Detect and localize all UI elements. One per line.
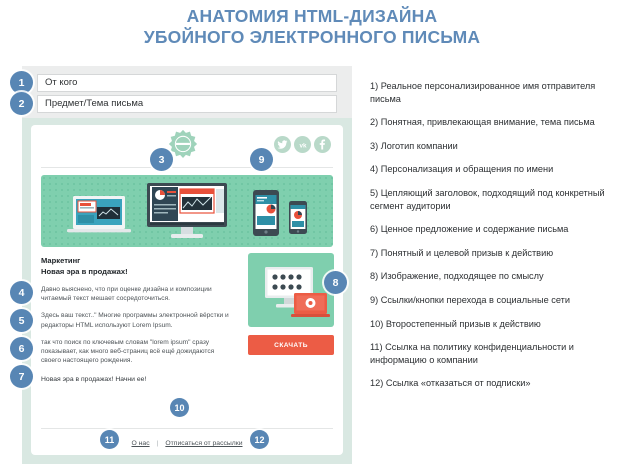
legend-item-4: 4) Персонализация и обращения по имени (370, 163, 616, 176)
about-link[interactable]: О нас (131, 440, 149, 447)
product-card: СКАЧАТЬ (248, 253, 334, 355)
header-divider (41, 167, 333, 168)
legend-item-6: 6) Ценное предложение и содержание письм… (370, 223, 616, 236)
email-body: Маркетинг Новая эра в продажах! Давно вы… (31, 247, 343, 383)
badge-5: 5 (10, 309, 33, 332)
legend-item-3: 3) Логотип компании (370, 140, 616, 153)
marketing-kicker: Маркетинг (41, 256, 80, 265)
badge-10: 10 (170, 398, 189, 417)
email-text-column: Маркетинг Новая эра в продажах! Давно вы… (41, 256, 231, 383)
badge-2: 2 (10, 92, 33, 115)
twitter-icon[interactable] (274, 136, 291, 153)
unsubscribe-link[interactable]: Отписаться от рассылки (165, 440, 242, 447)
legend-item-2: 2) Понятная, привлекающая внимание, тема… (370, 116, 616, 129)
badge-6: 6 (10, 337, 33, 360)
email-footer: О нас | Отписаться от рассылки (31, 440, 343, 447)
badge-11: 11 (100, 430, 119, 449)
badge-12: 12 (250, 430, 269, 449)
subject-field[interactable]: Предмет/Тема письма (37, 95, 337, 113)
legend-item-11: 11) Ссылка на политику конфиденциальност… (370, 341, 616, 366)
body-paragraph-1: Давно выяснено, что при оценке дизайна и… (41, 285, 231, 303)
legend-list: 1) Реальное персонализированное имя отпр… (370, 80, 616, 401)
tablet-device-icon (253, 190, 279, 236)
badge-8: 8 (324, 271, 347, 294)
legend-item-1: 1) Реальное персонализированное имя отпр… (370, 80, 616, 105)
product-image (248, 253, 334, 327)
from-field[interactable]: От кого (37, 74, 337, 92)
infographic-page: АНАТОМИЯ HTML-ДИЗАЙНА УБОЙНОГО ЭЛЕКТРОНН… (0, 0, 624, 473)
monitor-device-icon (145, 183, 229, 241)
facebook-icon[interactable] (314, 136, 331, 153)
secondary-cta-text[interactable]: Новая эра в продажах! Начни ее! (41, 376, 231, 383)
badge-3: 3 (150, 148, 173, 171)
marketing-headline: Новая эра в продажах! (41, 267, 128, 276)
badge-9: 9 (250, 148, 273, 171)
legend-item-9: 9) Ссылки/кнопки перехода в социальные с… (370, 294, 616, 307)
email-mockup: От кого Предмет/Тема письма 1 2 (22, 66, 352, 464)
vk-icon[interactable]: vk (294, 136, 311, 153)
badge-4: 4 (10, 281, 33, 304)
svg-text:vk: vk (299, 142, 307, 149)
footer-separator: | (157, 440, 159, 447)
legend-item-8: 8) Изображение, подходящее по смыслу (370, 270, 616, 283)
hero-image (41, 175, 333, 247)
badge-7: 7 (10, 365, 33, 388)
legend-item-7: 7) Понятный и целевой призыв к действию (370, 247, 616, 260)
page-title: АНАТОМИЯ HTML-ДИЗАЙНА УБОЙНОГО ЭЛЕКТРОНН… (0, 6, 624, 48)
product-devices-icon (248, 253, 334, 327)
download-button[interactable]: СКАЧАТЬ (248, 335, 334, 355)
legend-item-5: 5) Цепляющий заголовок, подходящий под к… (370, 187, 616, 212)
laptop-device-icon (67, 195, 131, 235)
marketing-heading: Маркетинг Новая эра в продажах! (41, 256, 231, 277)
social-icons[interactable]: vk (274, 136, 331, 153)
legend-item-10: 10) Второстепенный призыв к действию (370, 318, 616, 331)
footer-divider (41, 428, 333, 429)
badge-1: 1 (10, 71, 33, 94)
legend-item-12: 12) Ссылка «отказаться от подписки» (370, 377, 616, 390)
brand-row: vk (31, 125, 343, 167)
title-line-1: АНАТОМИЯ HTML-ДИЗАЙНА (187, 6, 438, 26)
phone-device-icon (289, 201, 307, 234)
body-paragraph-2: Здесь ваш текст.." Многие программы элек… (41, 311, 231, 329)
email-header-band: От кого Предмет/Тема письма (22, 66, 352, 118)
body-paragraph-3: так что поиск по ключевым словам "lorem … (41, 338, 231, 366)
title-line-2: УБОЙНОГО ЭЛЕКТРОННОГО ПИСЬМА (0, 27, 624, 48)
